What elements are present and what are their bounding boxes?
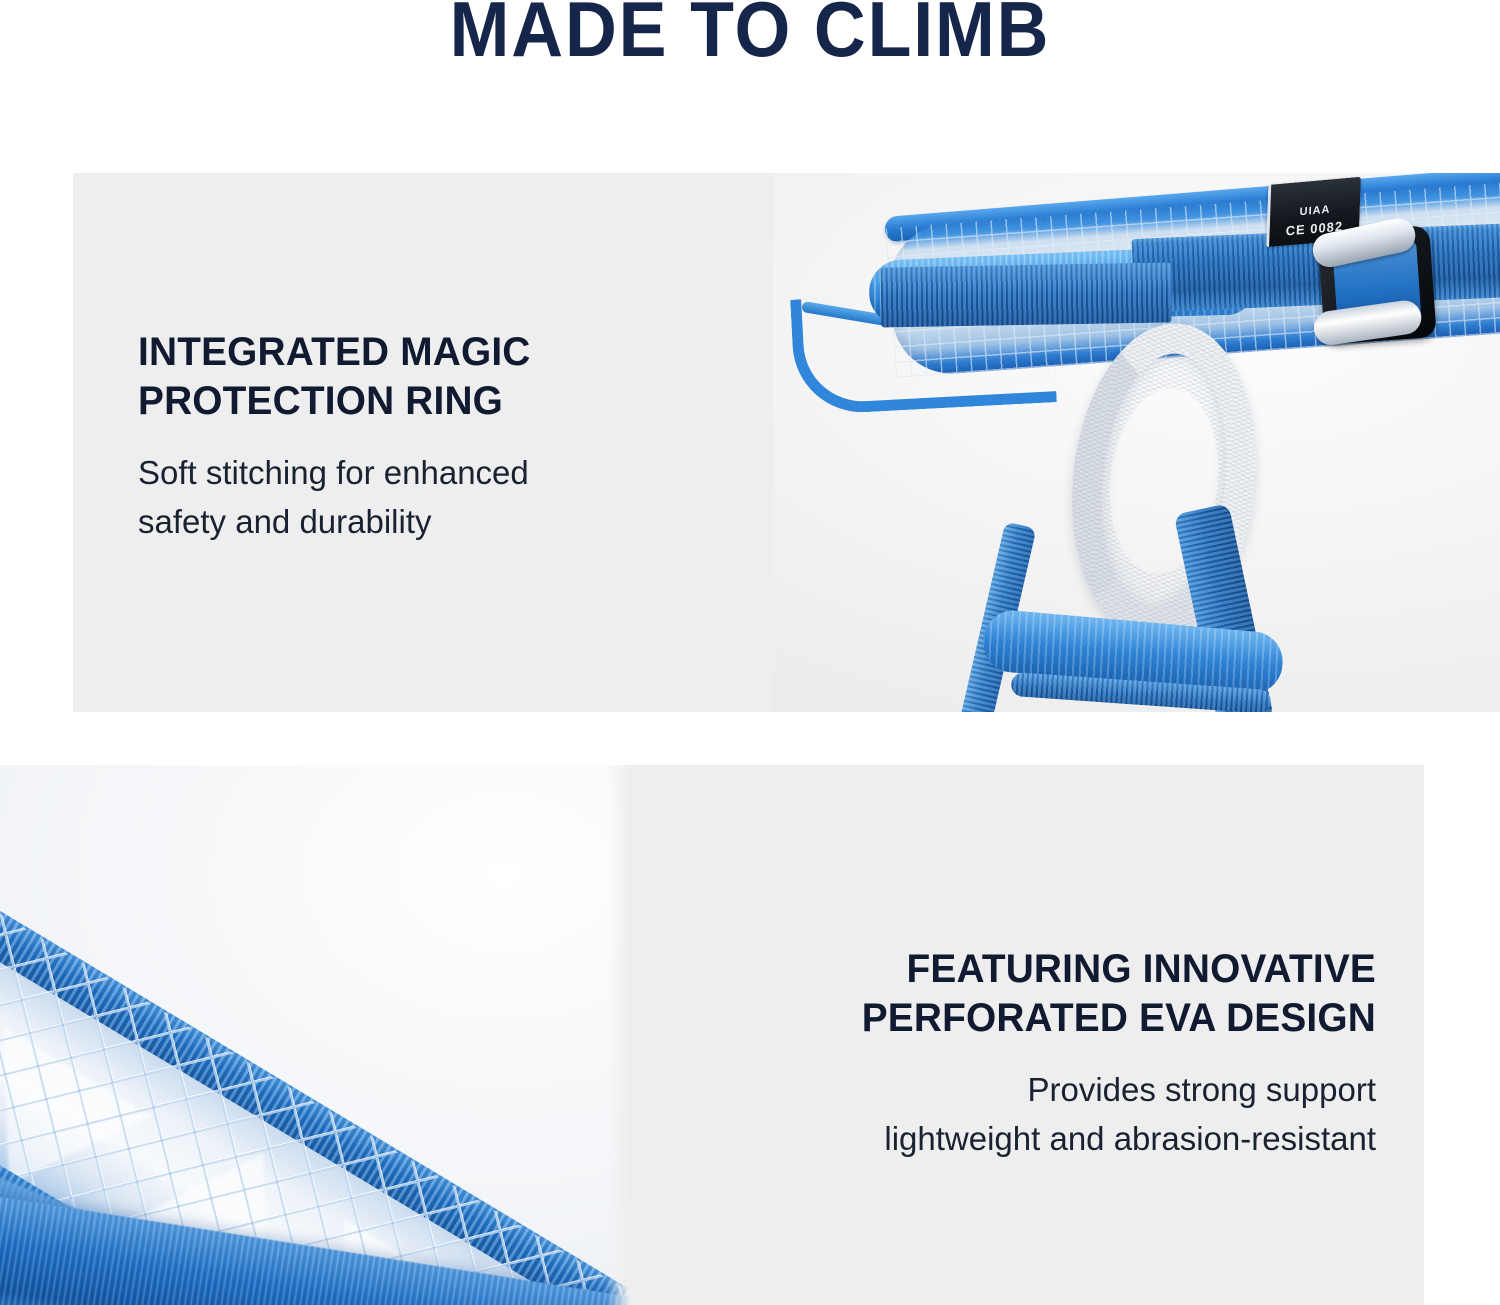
feature-subtitle-perforated-eva: Provides strong support lightweight and … [676,1065,1376,1163]
feature-panel-perforated-eva-design: FEATURING INNOVATIVE PERFORATED EVA DESI… [0,765,1424,1305]
feature-subtitle-line-1: Provides strong support [1027,1071,1376,1108]
feature-title-line-1: FEATURING INNOVATIVE [907,947,1376,991]
product-photo-protection-ring: UIAA CE 0082 [773,173,1500,712]
feature-subtitle-line-1: Soft stitching for enhanced [138,454,529,491]
feature-text-block-perforated-eva: FEATURING INNOVATIVE PERFORATED EVA DESI… [676,945,1376,1163]
feature-title-line-2: PERFORATED EVA DESIGN [862,996,1376,1040]
feature-title-protection-ring: INTEGRATED MAGIC PROTECTION RING [138,328,681,426]
feature-title-line-1: INTEGRATED MAGIC [138,330,531,374]
harness-buckle [1317,225,1437,345]
feature-title-perforated-eva: FEATURING INNOVATIVE PERFORATED EVA DESI… [697,945,1376,1043]
feature-subtitle-protection-ring: Soft stitching for enhanced safety and d… [138,448,698,546]
page-title: MADE TO CLIMB [60,0,1440,72]
feature-title-line-2: PROTECTION RING [138,379,503,423]
product-photo-perforated-eva [0,765,632,1305]
feature-text-block-protection-ring: INTEGRATED MAGIC PROTECTION RING Soft st… [138,328,698,546]
headline-banner: MADE TO CLIMB [0,0,1500,92]
feature-subtitle-line-2: lightweight and abrasion-resistant [884,1120,1376,1157]
feature-subtitle-line-2: safety and durability [138,503,432,540]
photo-edge-fade [606,765,632,1305]
feature-panel-magic-protection-ring: UIAA CE 0082 INTEGRATED MAGIC PROTECTION… [73,173,1500,712]
waistbelt-strap-fold [880,262,1171,327]
